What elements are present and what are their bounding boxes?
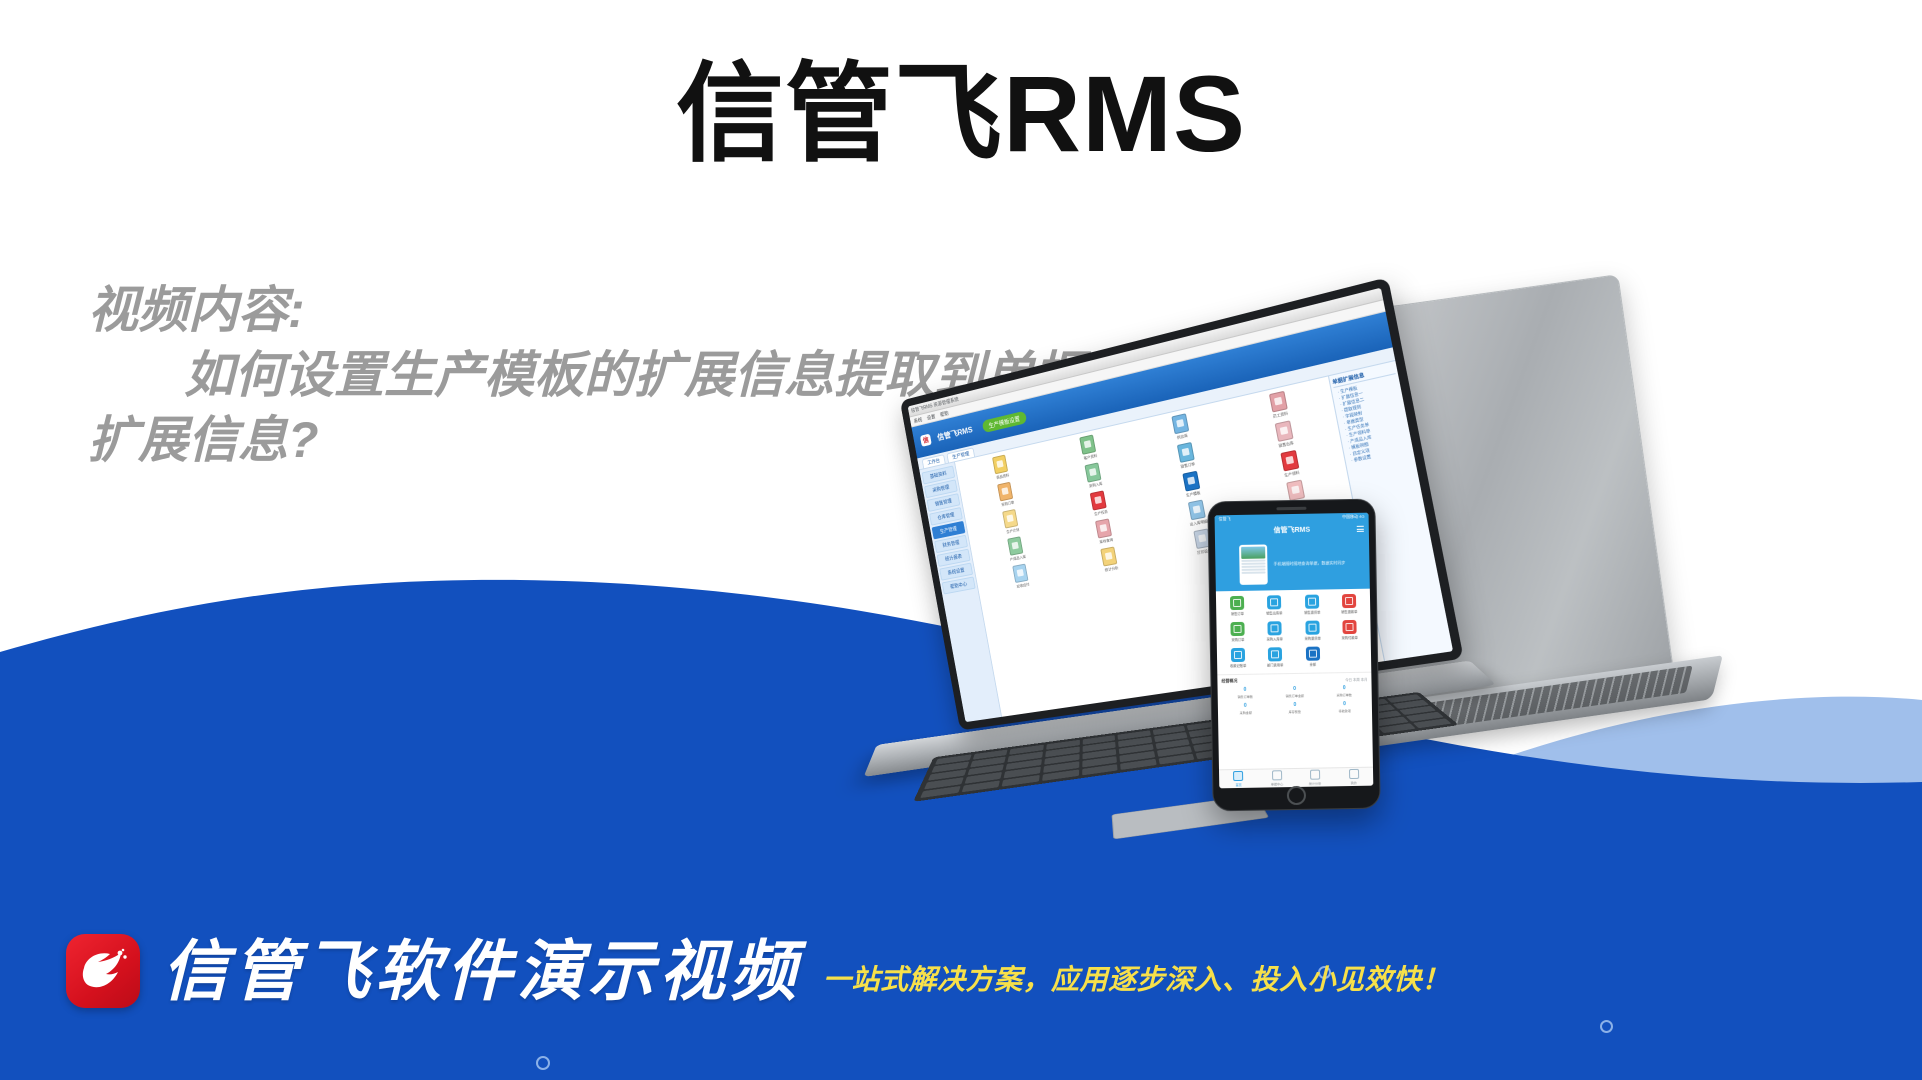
phone-nav-item[interactable]: 我的 bbox=[1334, 768, 1373, 787]
phone-stat-value: 0 bbox=[1343, 685, 1346, 691]
phone-banner-text: 手机端随时随地查询单据，数据实时同步 bbox=[1273, 560, 1345, 567]
phone-stat-label: 销售订单金额 bbox=[1285, 693, 1303, 698]
phone-nav-item[interactable]: 统计分析 bbox=[1296, 768, 1335, 787]
hamburger-menu-icon[interactable] bbox=[1357, 526, 1364, 532]
module-icon bbox=[1280, 450, 1299, 472]
brand-row: 信管飞软件演示视频 一站式解决方案，应用逐步深入、投入小见效快！ bbox=[66, 934, 1450, 1008]
bird-logo-icon bbox=[66, 934, 140, 1008]
module-icon-label: 供应商 bbox=[1177, 433, 1189, 441]
app-action-pill[interactable]: 生产模板设置 bbox=[981, 410, 1026, 433]
phone-module-cell[interactable]: 采购退货单 bbox=[1294, 620, 1330, 642]
phone-stat-label: 采购金额 bbox=[1239, 710, 1251, 715]
front-laptop: 信管飞RMS 资源管理系统 系统 设置 帮助 信 信管飞RMS 生产模板设置 工… bbox=[857, 313, 1504, 923]
phone-module-icon bbox=[1268, 647, 1282, 661]
module-icon bbox=[1182, 471, 1200, 492]
footer-brand-bar: 信管飞软件演示视频 一站式解决方案，应用逐步深入、投入小见效快！ bbox=[0, 900, 1922, 1080]
phone-stats-grid: 0销售订单数0销售订单金额0采购订单数0采购金额0库存预警0待收款项 bbox=[1218, 682, 1373, 719]
user-icon bbox=[1349, 769, 1359, 779]
module-icon-label: 采购订单 bbox=[1001, 500, 1015, 508]
page-title: 信管飞RMS bbox=[0, 52, 1922, 176]
phone-promo-banner: 手机端随时随地查询单据，数据实时同步 bbox=[1215, 537, 1370, 592]
menu-item-settings[interactable]: 设置 bbox=[926, 413, 935, 421]
module-icon bbox=[1079, 434, 1096, 454]
phone-module-label: 采购订单 bbox=[1231, 638, 1244, 643]
phone-stat-label: 销售订单数 bbox=[1237, 694, 1252, 699]
filter-today[interactable]: 今日 bbox=[1345, 677, 1352, 681]
phone-module-cell[interactable]: 销售订单 bbox=[1219, 596, 1255, 618]
phone-stat-cell: 0销售订单金额 bbox=[1270, 686, 1319, 699]
phone-module-icon bbox=[1305, 595, 1319, 609]
tree-item-list: · 生产模板· 扩展信息一· 扩展信息二· 提取规则· 字段映射· 单据类型· … bbox=[1334, 376, 1411, 464]
phone-module-icon bbox=[1342, 594, 1356, 608]
phone-module-cell[interactable]: 采购订单 bbox=[1219, 622, 1255, 644]
module-icon bbox=[1177, 442, 1195, 463]
phone-status-right: 中国移动 4G bbox=[1342, 514, 1365, 520]
phone-module-label: 采购退货单 bbox=[1304, 637, 1320, 642]
phone-nav-item[interactable]: 首页 bbox=[1219, 770, 1258, 789]
phone-module-cell[interactable]: 全部 bbox=[1295, 646, 1331, 668]
phone-module-icon bbox=[1267, 595, 1281, 609]
phone-stat-cell: 0采购订单数 bbox=[1320, 685, 1369, 698]
module-icon bbox=[1100, 546, 1117, 566]
phone-module-cell[interactable]: 销售出库单 bbox=[1256, 595, 1292, 617]
phone-module-grid: 销售订单销售出库单销售退货单销售退款单采购订单采购入库单采购退货单采购付款单收款… bbox=[1216, 589, 1371, 675]
phone-module-label: 销售退款单 bbox=[1341, 610, 1357, 615]
laptop-bezel: 信管飞RMS 资源管理系统 系统 设置 帮助 信 信管飞RMS 生产模板设置 工… bbox=[900, 277, 1464, 730]
module-icon bbox=[1286, 480, 1305, 501]
phone-screen: 信管飞 中国移动 4G 信管飞RMS 手机端随时随地查询单据，数据实时同步 销售… bbox=[1215, 513, 1374, 789]
phone-module-label: 采购付款单 bbox=[1342, 636, 1358, 641]
module-icon-label: 生产领料 bbox=[1284, 470, 1300, 479]
module-icon bbox=[1013, 564, 1029, 583]
phone-module-icon bbox=[1230, 596, 1244, 610]
phone-module-icon bbox=[1306, 647, 1320, 661]
module-icon bbox=[1171, 413, 1189, 434]
module-icon-label: 生产计划 bbox=[1006, 527, 1020, 535]
phone-module-label: 销售订单 bbox=[1231, 612, 1244, 617]
app-brand-name: 信管飞RMS bbox=[936, 424, 973, 443]
phone-app-title: 信管飞RMS bbox=[1273, 525, 1310, 536]
slide-canvas: 信管飞RMS 视频内容: 如何设置生产模板的扩展信息提取到单据的扩展信息? bbox=[0, 0, 1922, 1080]
app-logo-icon: 信 bbox=[920, 434, 932, 447]
phone-mockup: 信管飞 中国移动 4G 信管飞RMS 手机端随时随地查询单据，数据实时同步 销售… bbox=[1207, 499, 1380, 812]
phone-module-label: 采购入库单 bbox=[1267, 637, 1283, 642]
module-icon bbox=[1008, 536, 1024, 556]
phone-module-label: 销售退货单 bbox=[1304, 611, 1320, 616]
module-icon bbox=[1188, 500, 1206, 521]
phone-stat-label: 待收款项 bbox=[1338, 708, 1350, 713]
phone-nav-label: 统计分析 bbox=[1309, 781, 1321, 786]
filter-week[interactable]: 本周 bbox=[1353, 677, 1360, 681]
phone-module-label: 部门费用单 bbox=[1267, 663, 1283, 668]
module-icon bbox=[1095, 518, 1112, 538]
phone-stat-cell: 0销售订单数 bbox=[1221, 686, 1270, 699]
phone-stat-cell: 0待收款项 bbox=[1320, 701, 1369, 714]
phone-stat-value: 0 bbox=[1244, 703, 1247, 709]
phone-module-cell[interactable]: 销售退货单 bbox=[1294, 594, 1330, 616]
phone-nav-label: 单据中心 bbox=[1271, 781, 1283, 786]
module-icon-label: 库存查询 bbox=[1099, 537, 1114, 545]
module-icon-label: 商品资料 bbox=[996, 473, 1010, 481]
phone-module-label: 全部 bbox=[1310, 663, 1317, 668]
menu-item-system[interactable]: 系统 bbox=[913, 416, 922, 424]
module-icon-label: 采购入库 bbox=[1088, 481, 1102, 489]
phone-module-label: 销售出库单 bbox=[1266, 611, 1282, 616]
module-icon-label: 生产模板 bbox=[1186, 490, 1201, 498]
phone-nav-label: 我的 bbox=[1351, 780, 1357, 785]
phone-module-cell[interactable]: 采购付款单 bbox=[1332, 620, 1368, 642]
module-icon bbox=[1085, 462, 1102, 482]
phone-status-left: 信管飞 bbox=[1219, 516, 1231, 522]
phone-speaker bbox=[1276, 507, 1306, 511]
phone-nav-label: 首页 bbox=[1235, 782, 1241, 787]
phone-banner-device-icon bbox=[1239, 544, 1268, 584]
brand-tagline: 一站式解决方案，应用逐步深入、投入小见效快！ bbox=[823, 958, 1450, 1008]
phone-stat-value: 0 bbox=[1243, 687, 1246, 693]
phone-app-header: 信管飞RMS bbox=[1215, 521, 1369, 540]
brand-title: 信管飞软件演示视频 bbox=[162, 938, 801, 1008]
phone-nav-item[interactable]: 单据中心 bbox=[1257, 769, 1296, 788]
module-icon bbox=[1269, 391, 1288, 413]
module-icon-label: 生产任务 bbox=[1093, 509, 1107, 517]
phone-stat-value: 0 bbox=[1343, 701, 1346, 707]
phone-module-cell[interactable]: 销售退款单 bbox=[1331, 594, 1367, 616]
phone-module-icon bbox=[1343, 620, 1357, 634]
device-mockups: 信管飞RMS 资源管理系统 系统 设置 帮助 信 信管飞RMS 生产模板设置 工… bbox=[880, 300, 1922, 940]
phone-module-icon bbox=[1305, 621, 1319, 635]
module-icon bbox=[997, 482, 1013, 502]
module-icon-label: 应收应付 bbox=[1016, 582, 1030, 590]
phone-stat-value: 0 bbox=[1293, 702, 1296, 708]
module-icon bbox=[1090, 490, 1107, 510]
phone-module-cell[interactable]: 部门费用单 bbox=[1257, 647, 1293, 669]
phone-module-icon bbox=[1231, 648, 1245, 662]
chart-icon bbox=[1310, 770, 1320, 780]
phone-module-cell[interactable]: 收款记账单 bbox=[1220, 648, 1256, 670]
phone-module-icon bbox=[1230, 622, 1244, 636]
phone-home-button[interactable] bbox=[1287, 786, 1306, 805]
phone-module-label: 收款记账单 bbox=[1230, 664, 1246, 669]
phone-stat-cell: 0采购金额 bbox=[1221, 702, 1270, 715]
phone-stat-value: 0 bbox=[1293, 686, 1296, 692]
module-icon bbox=[1002, 509, 1018, 529]
video-content-label: 视频内容: bbox=[88, 282, 305, 338]
filter-month[interactable]: 本月 bbox=[1361, 677, 1368, 681]
module-icon bbox=[1274, 420, 1293, 442]
module-icon bbox=[992, 454, 1008, 474]
module-icon-label: 统计分析 bbox=[1104, 565, 1119, 573]
documents-icon bbox=[1272, 770, 1282, 780]
menu-item-help[interactable]: 帮助 bbox=[940, 409, 950, 417]
phone-stat-label: 采购订单数 bbox=[1337, 692, 1352, 697]
phone-stat-label: 库存预警 bbox=[1289, 709, 1301, 714]
phone-module-icon bbox=[1268, 621, 1282, 635]
home-icon bbox=[1233, 771, 1243, 781]
phone-module-cell[interactable]: 采购入库单 bbox=[1257, 621, 1293, 643]
phone-stat-cell: 0库存预警 bbox=[1270, 702, 1319, 715]
